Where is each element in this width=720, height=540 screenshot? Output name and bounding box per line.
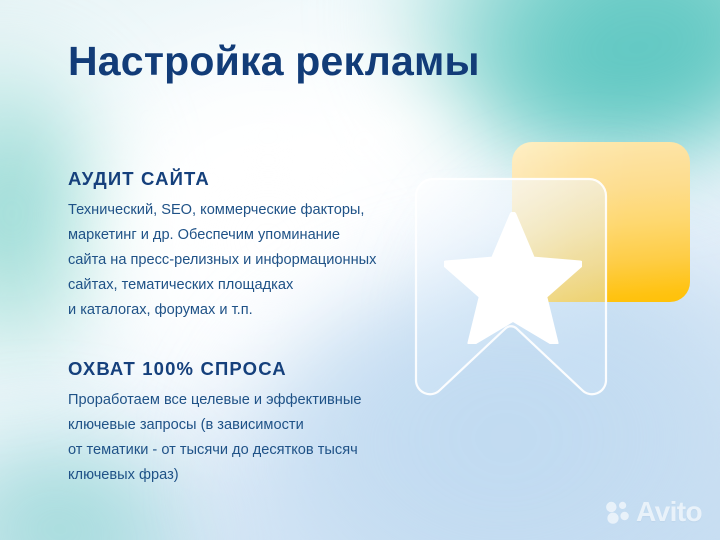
- section-coverage-heading: ОХВАТ 100% СПРОСА: [68, 358, 398, 380]
- section-audit: АУДИТ САЙТА Технический, SEO, коммерческ…: [68, 168, 398, 323]
- section-audit-heading: АУДИТ САЙТА: [68, 168, 398, 190]
- avito-watermark: Avito: [605, 498, 702, 526]
- section-coverage-line: Проработаем все целевые и эффективные: [68, 388, 398, 413]
- section-audit-line: и каталогах, форумах и т.п.: [68, 298, 398, 323]
- section-audit-body: Технический, SEO, коммерческие факторы, …: [68, 198, 398, 323]
- page-title: Настройка рекламы: [68, 40, 480, 83]
- section-coverage: ОХВАТ 100% СПРОСА Проработаем все целевы…: [68, 358, 398, 488]
- section-audit-line: сайта на пресс-релизных и информационных: [68, 248, 398, 273]
- avito-dots-logo-icon: [605, 501, 631, 524]
- section-audit-line: Технический, SEO, коммерческие факторы,: [68, 198, 398, 223]
- slide-canvas: Настройка рекламы АУДИТ САЙТА Технически…: [0, 0, 720, 540]
- section-audit-line: маркетинг и др. Обеспечим упоминание: [68, 223, 398, 248]
- section-coverage-line: ключевые запросы (в зависимости: [68, 413, 398, 438]
- avito-wordmark: Avito: [636, 498, 702, 526]
- section-coverage-line: ключевых фраз): [68, 463, 398, 488]
- content-layer: Настройка рекламы АУДИТ САЙТА Технически…: [0, 0, 720, 540]
- section-coverage-body: Проработаем все целевые и эффективные кл…: [68, 388, 398, 488]
- section-coverage-line: от тематики - от тысячи до десятков тыся…: [68, 438, 398, 463]
- section-audit-line: сайтах, тематических площадках: [68, 273, 398, 298]
